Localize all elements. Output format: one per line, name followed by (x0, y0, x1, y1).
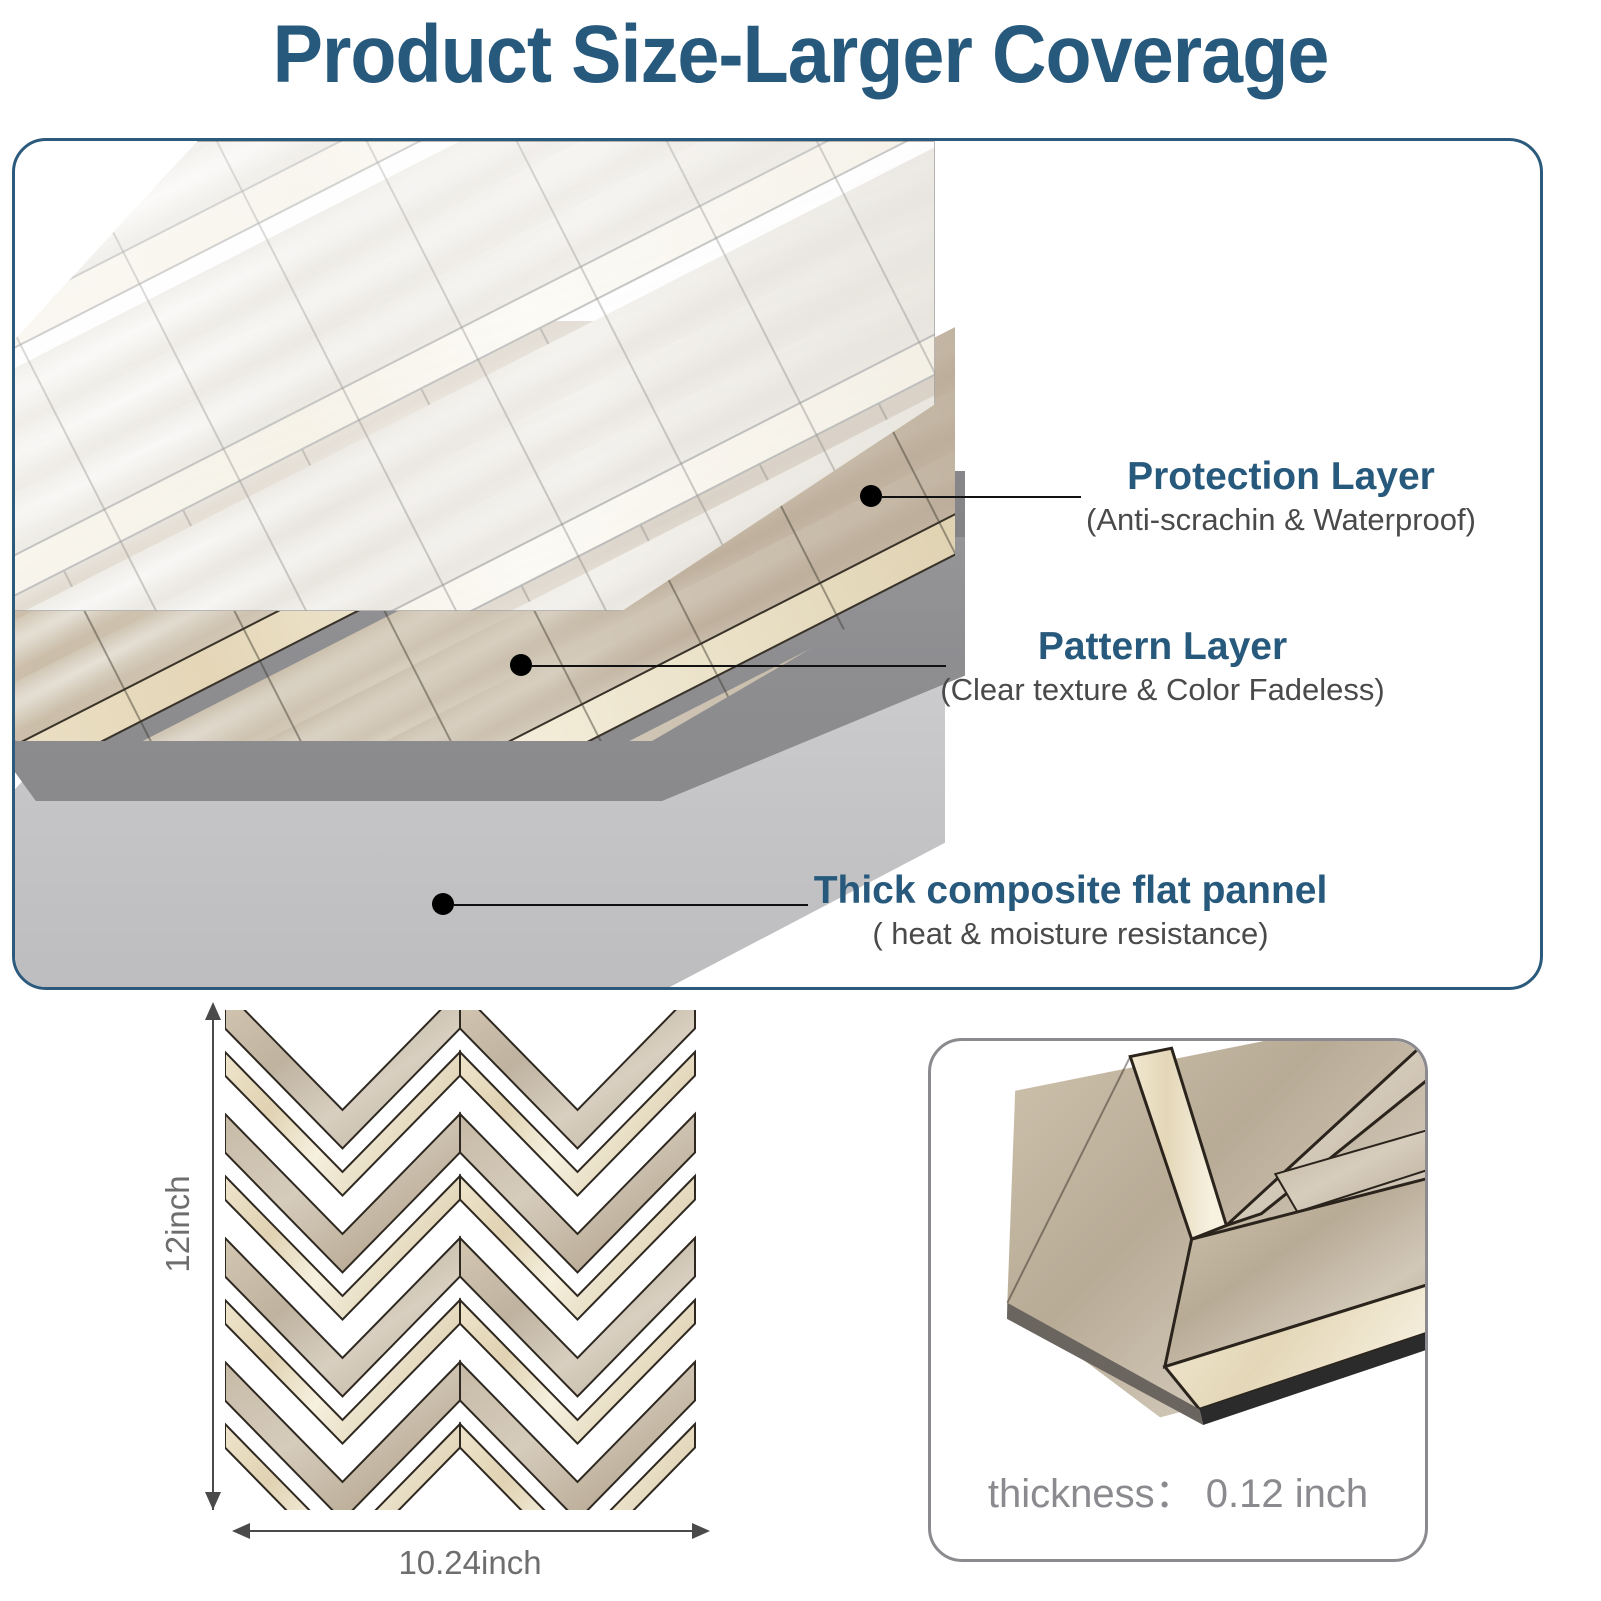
callout-protection-layer: Protection Layer (Anti-scrachin & Waterp… (1071, 457, 1491, 538)
dimension-height-label: 12inch (159, 1154, 197, 1294)
callout-pattern-layer: Pattern Layer (Clear texture & Color Fad… (935, 627, 1390, 708)
callout-subtitle: (Clear texture & Color Fadeless) (935, 672, 1390, 708)
tile-corner-svg (931, 1038, 1428, 1431)
dimension-arrow-down-icon (205, 1492, 221, 1510)
callout-leader-pattern (531, 665, 946, 667)
callout-dot-protection (860, 485, 882, 507)
callout-subtitle: ( heat & moisture resistance) (798, 916, 1343, 952)
layer-structure-panel: Protection Layer (Anti-scrachin & Waterp… (12, 138, 1543, 990)
chevron-tile-sample (225, 1010, 715, 1510)
dimension-line-vertical (212, 1010, 214, 1510)
callout-leader-protection (881, 496, 1081, 498)
dimension-width-label: 10.24inch (240, 1544, 700, 1582)
callout-composite-panel: Thick composite flat pannel ( heat & moi… (798, 871, 1343, 952)
tile-dimension-diagram: 12inch (150, 1000, 770, 1600)
exploded-tile-illustration: Protection Layer (Anti-scrachin & Waterp… (15, 141, 1543, 990)
callout-title: Pattern Layer (935, 627, 1390, 668)
dimension-line-horizontal (240, 1530, 700, 1532)
callout-title: Thick composite flat pannel (798, 871, 1343, 912)
infographic-root: Product Size-Larger Coverage Protect (0, 0, 1601, 1601)
callout-leader-composite (453, 904, 808, 906)
callout-title: Protection Layer (1071, 457, 1491, 498)
tile-corner-closeup (931, 1038, 1428, 1431)
callout-subtitle: (Anti-scrachin & Waterproof) (1071, 502, 1491, 538)
thickness-value-label: thickness： 0.12 inch (931, 1461, 1425, 1519)
page-title: Product Size-Larger Coverage (64, 8, 1537, 102)
chevron-tile-svg (225, 1010, 715, 1510)
callout-dot-composite (432, 893, 454, 915)
callout-dot-pattern (510, 654, 532, 676)
dimension-arrow-right-icon (692, 1523, 710, 1539)
thickness-panel: thickness： 0.12 inch (928, 1038, 1428, 1562)
